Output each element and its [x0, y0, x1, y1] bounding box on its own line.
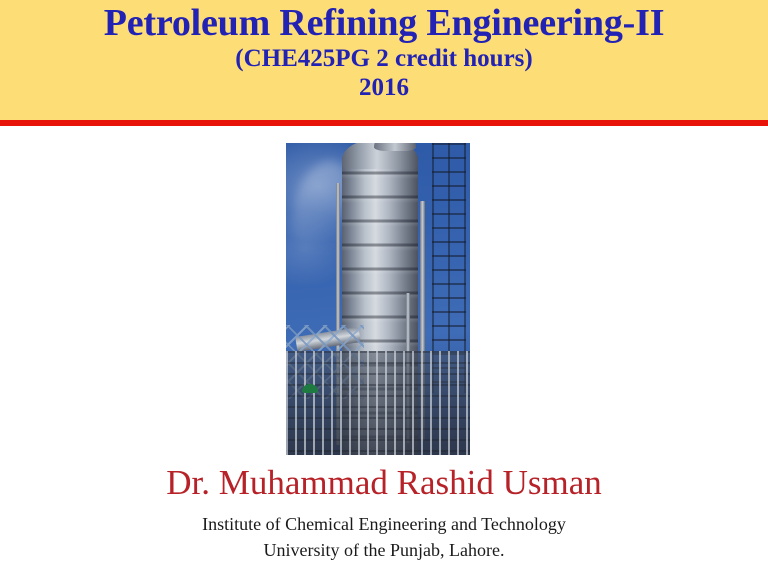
affiliation-institute: Institute of Chemical Engineering and Te…	[0, 514, 768, 536]
title-header-band: Petroleum Refining Engineering-II (CHE42…	[0, 0, 768, 120]
page-title: Petroleum Refining Engineering-II	[0, 4, 768, 43]
header-divider-rule	[0, 120, 768, 126]
presenter-name: Dr. Muhammad Rashid Usman	[0, 464, 768, 503]
distillation-column-dome	[374, 143, 416, 151]
refinery-column-photo	[286, 143, 470, 455]
course-code-subtitle: (CHE425PG 2 credit hours)	[0, 43, 768, 73]
affiliation-university: University of the Punjab, Lahore.	[0, 540, 768, 562]
plant-piping-base	[286, 351, 470, 455]
green-equipment-unit	[302, 384, 318, 393]
year-label: 2016	[0, 73, 768, 102]
photo-sky-background	[286, 143, 470, 455]
